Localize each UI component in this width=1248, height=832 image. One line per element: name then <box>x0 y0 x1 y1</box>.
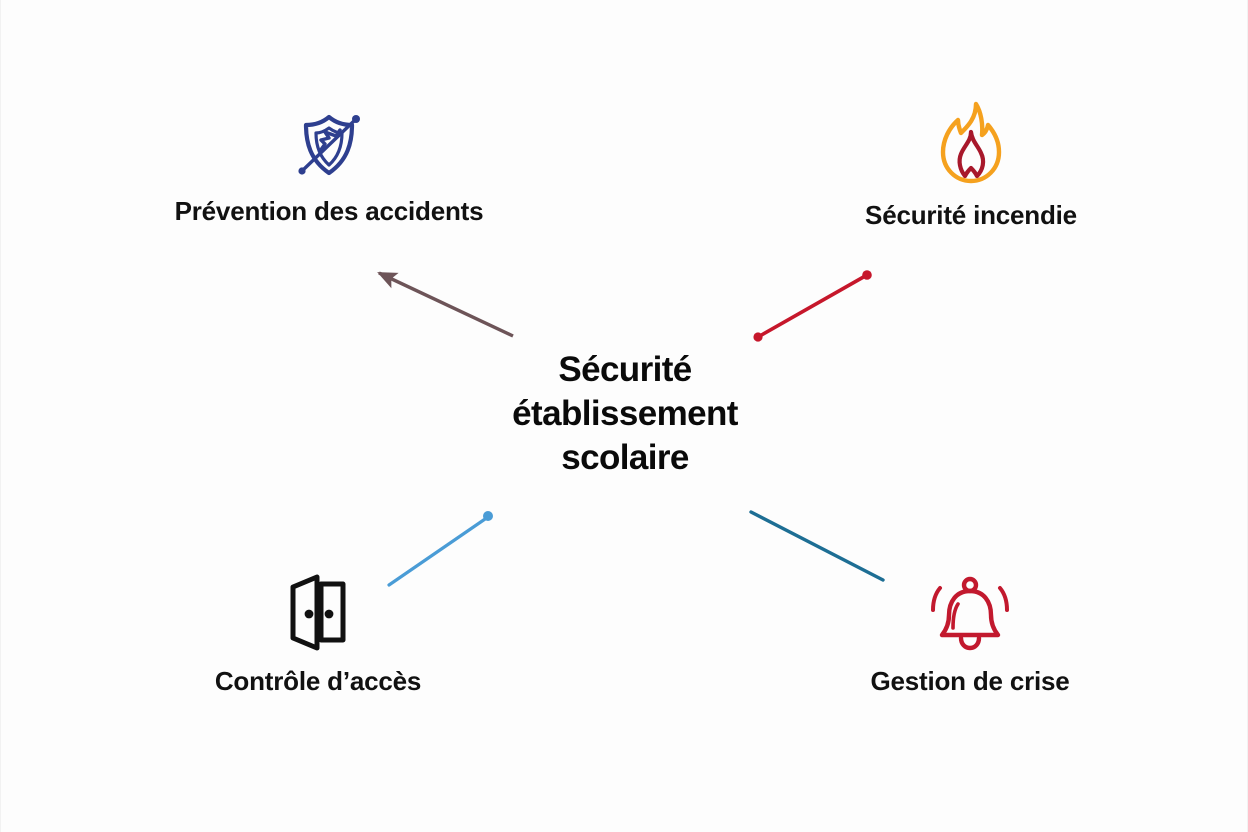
node-gestion-de-crise[interactable]: Gestion de crise <box>859 572 1081 697</box>
connector-crise <box>751 512 883 580</box>
node-acces-label: Contrôle d’accès <box>215 666 421 697</box>
node-crise-label: Gestion de crise <box>870 666 1069 697</box>
node-controle-dacces[interactable]: Contrôle d’accès <box>203 572 433 697</box>
node-prevention-des-accidents[interactable]: Prévention des accidents <box>159 108 499 227</box>
connector-prevention <box>379 273 513 336</box>
center-title-line-2: établissement <box>425 392 825 436</box>
shield-prevention-icon <box>291 108 367 182</box>
center-title: Sécurité établissement scolaire <box>425 348 825 480</box>
alarm-bell-icon <box>928 572 1012 652</box>
node-incendie-label: Sécurité incendie <box>865 200 1077 231</box>
mind-map-diagram: Sécurité établissement scolaire Préventi… <box>0 0 1248 832</box>
connector-incendie <box>753 270 871 341</box>
node-prevention-label: Prévention des accidents <box>175 196 484 227</box>
open-door-icon <box>281 572 355 652</box>
flame-icon <box>936 100 1006 186</box>
node-securite-incendie[interactable]: Sécurité incendie <box>853 100 1089 231</box>
center-title-line-1: Sécurité <box>425 348 825 392</box>
center-title-line-3: scolaire <box>425 436 825 480</box>
